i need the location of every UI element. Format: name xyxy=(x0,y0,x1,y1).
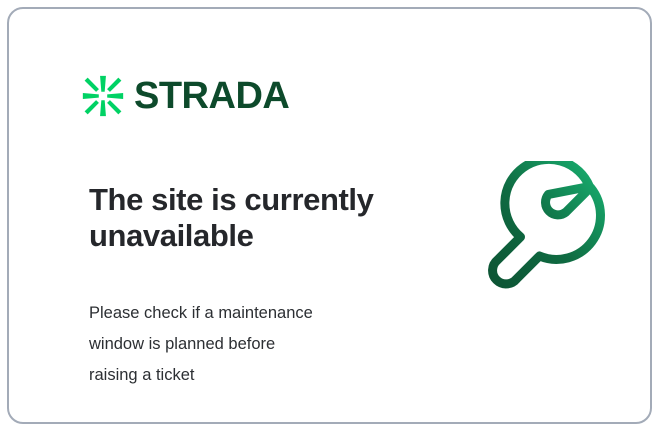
status-card: STRADA The site is currently unavailable… xyxy=(7,7,652,424)
brand-wordmark: STRADA xyxy=(134,77,289,115)
page-title: The site is currently unavailable xyxy=(89,182,419,254)
strada-asterisk-icon xyxy=(82,75,124,117)
maintenance-page: STRADA The site is currently unavailable… xyxy=(0,0,666,436)
brand-logo: STRADA xyxy=(82,75,289,117)
page-description: Please check if a maintenance window is … xyxy=(89,298,409,391)
wrench-icon xyxy=(461,161,621,321)
